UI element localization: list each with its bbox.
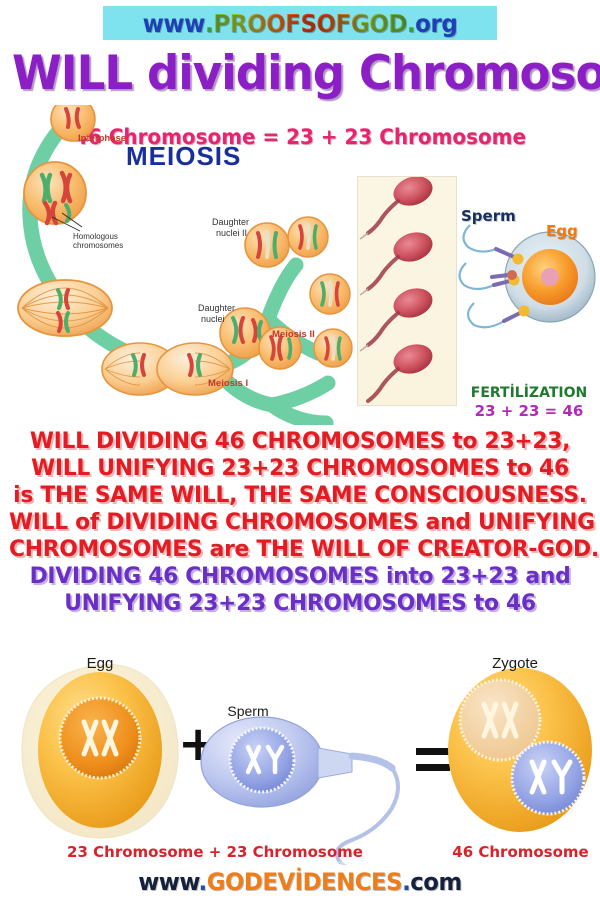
statement-line-5: CHROMOSOMES are THE WILL OF CREATOR-GOD. [9, 536, 591, 563]
footer-url-www: www [138, 868, 198, 896]
meiosis-label-daughter-nuclei-ii-line2: nuclei II [216, 228, 247, 238]
bottom-label-egg: Egg [60, 655, 140, 672]
bottom-zygote-cell [448, 668, 592, 832]
sperm-illustration-1 [360, 177, 436, 239]
sperm-photo-strip [357, 176, 457, 406]
meiosis-label-meiosis-ii: Meiosis II [272, 329, 315, 340]
header-url-domain: PROOFSOFGOD [213, 9, 407, 38]
statement-line-7: UNIFYING 23+23 CHROMOSOMES to 46 [9, 590, 591, 617]
equals-sign-operator [416, 748, 450, 771]
zygote-formation-diagram: + [0, 650, 600, 865]
meiosis-label-interphase: Interphase [78, 133, 126, 144]
meiosis-cell-gamete-2 [310, 274, 350, 314]
statement-text-block: WILL DIVIDING 46 CHROMOSOMES to 23+23, W… [0, 428, 600, 643]
sperm-illustration-4 [368, 340, 436, 401]
statement-line-6: DIVIDING 46 CHROMOSOMES into 23+23 and [9, 563, 591, 590]
footer-url-tld: com [410, 868, 462, 896]
header-website-url[interactable]: www.PROOFSOFGOD.org [119, 7, 481, 39]
meiosis-label-daughter-nuclei-line1: Daughter [198, 303, 235, 313]
poster-canvas: www.PROOFSOFGOD.org WILL dividing Chromo… [0, 0, 600, 900]
bottom-label-zygote: Zygote [470, 655, 560, 672]
header-url-dot-1: . [205, 9, 213, 38]
fertilization-label-sperm: Sperm [461, 207, 516, 225]
footer-website-url[interactable]: www.GODEVİDENCES.com [15, 868, 585, 896]
footer-url-dot-1: . [199, 868, 207, 896]
page-title: WILL dividing Chromosomes [12, 46, 588, 101]
statement-line-4: WILL of DIVIDING CHROMOSOMES and UNIFYIN… [9, 509, 591, 536]
meiosis-label-meiosis-i: Meiosis I [208, 378, 248, 389]
footer-url-domain: GODEVİDENCES [207, 868, 402, 896]
meiosis-label-daughter-nuclei-ii-line1: Daughter [212, 217, 249, 227]
meiosis-label-homologous: Homologous [73, 232, 118, 241]
meiosis-heading: MEIOSIS [126, 141, 241, 171]
meiosis-cell-gamete-1 [288, 217, 328, 257]
meiosis-label-chromosomes: chromosomes [73, 241, 123, 250]
fertilization-equation: 23 + 23 = 46 [458, 402, 600, 420]
egg-cell-nucleolus [541, 268, 559, 286]
bottom-label-sperm: Sperm [208, 703, 288, 719]
header-url-www: www [143, 9, 205, 38]
header-url-tld: org [415, 9, 457, 38]
header-url-dot-2: . [407, 9, 415, 38]
bottom-caption-left: 23 Chromosome + 23 Chromosome [45, 843, 385, 861]
bottom-egg-cell [22, 664, 178, 838]
statement-line-2: WILL UNIFYING 23+23 CHROMOSOMES to 46 [9, 455, 591, 482]
meiosis-diagram: Interphase MEIOSIS Homologous chromosome… [0, 105, 365, 425]
sperm-illustration-3 [360, 284, 436, 351]
meiosis-cell-metaphase-i [18, 280, 112, 336]
meiosis-label-daughter-nuclei-line2: nuclei [201, 314, 225, 324]
fertilization-label-egg: Egg [546, 222, 578, 240]
statement-line-3: is THE SAME WILL, THE SAME CONSCIOUSNESS… [9, 482, 591, 509]
meiosis-cell-daughter-nuclei-ii [245, 223, 289, 267]
bottom-caption-right: 46 Chromosome [443, 843, 598, 861]
statement-line-1: WILL DIVIDING 46 CHROMOSOMES to 23+23, [9, 428, 591, 455]
fertilization-title: FERTİLİZATION [458, 385, 600, 401]
footer-url-dot-2: . [402, 868, 410, 896]
meiosis-cell-gamete-4 [314, 329, 352, 367]
sperm-illustration-2 [360, 228, 436, 295]
